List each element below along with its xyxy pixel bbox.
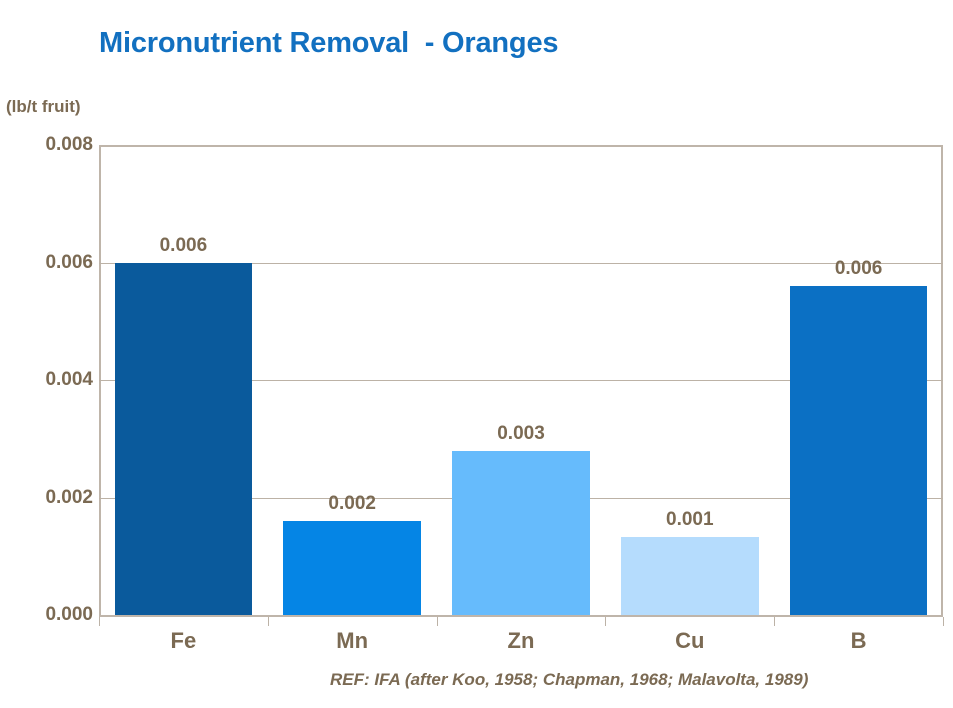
bar-b[interactable] (790, 286, 928, 615)
reference-note: REF: IFA (after Koo, 1958; Chapman, 1968… (330, 670, 808, 690)
bar-value-label-cu: 0.001 (666, 509, 714, 531)
chart-title: Micronutrient Removal - Oranges (99, 28, 558, 60)
x-label-fe: Fe (171, 628, 197, 654)
bar-cu[interactable] (621, 537, 759, 615)
bar-series (99, 145, 943, 615)
y-axis-tick-labels: 0.0000.0020.0040.0060.008 (0, 0, 93, 708)
slide-canvas: Micronutrient Removal - Oranges (lb/t fr… (0, 0, 953, 708)
x-tick-mark (99, 617, 100, 626)
y-tick-label: 0.000 (7, 604, 93, 626)
bar-value-label-b: 0.006 (835, 258, 883, 280)
bar-value-label-zn: 0.003 (497, 423, 545, 445)
x-axis-line (99, 615, 943, 617)
bar-mn[interactable] (283, 521, 421, 615)
y-tick-label: 0.006 (7, 252, 93, 274)
bar-zn[interactable] (452, 451, 590, 616)
x-tick-mark (605, 617, 606, 626)
x-tick-mark (437, 617, 438, 626)
bar-value-label-fe: 0.006 (160, 235, 208, 257)
y-tick-label: 0.008 (7, 134, 93, 156)
x-label-zn: Zn (508, 628, 535, 654)
x-tick-mark (268, 617, 269, 626)
x-label-mn: Mn (336, 628, 368, 654)
x-label-b: B (851, 628, 867, 654)
y-tick-label: 0.004 (7, 369, 93, 391)
x-tick-mark (774, 617, 775, 626)
x-label-cu: Cu (675, 628, 704, 654)
y-tick-label: 0.002 (7, 487, 93, 509)
bar-fe[interactable] (115, 263, 253, 616)
x-tick-mark (943, 617, 944, 626)
bar-value-label-mn: 0.002 (328, 493, 376, 515)
